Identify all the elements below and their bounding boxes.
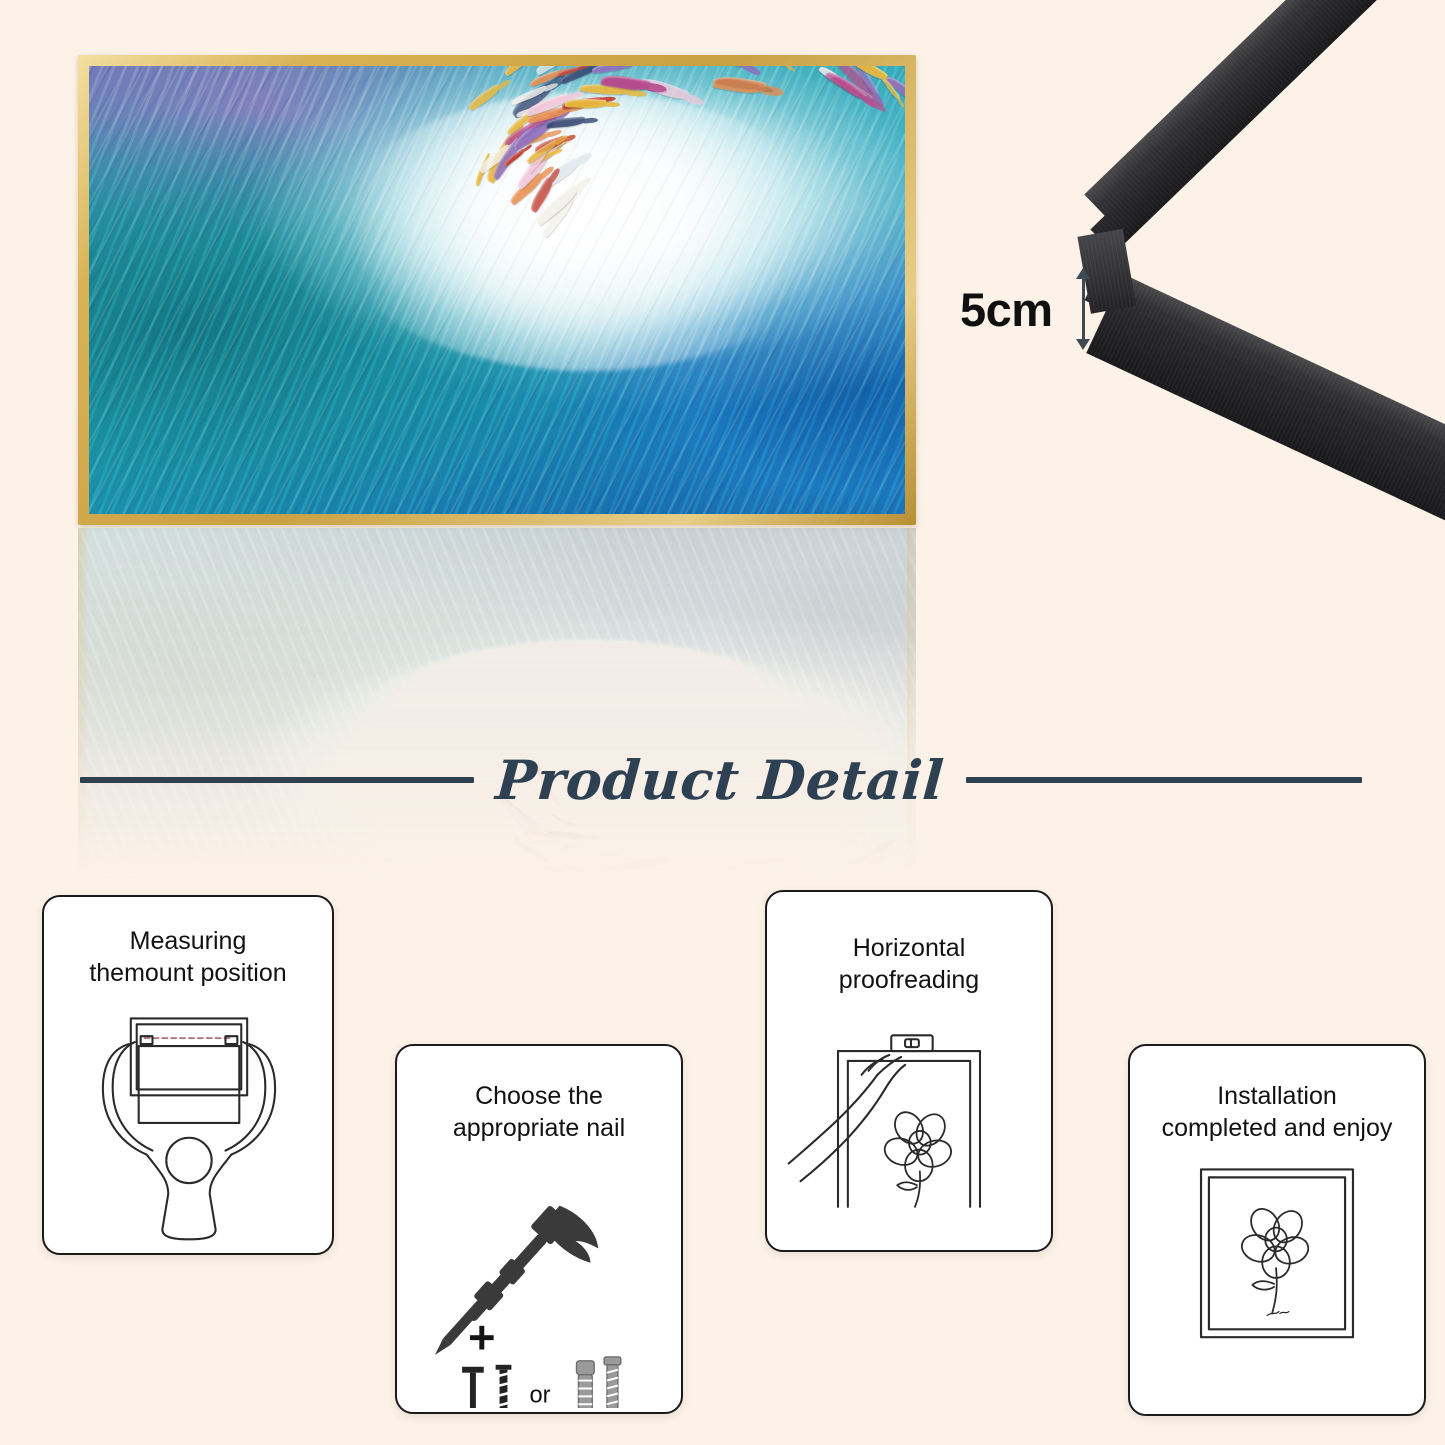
long-screw-icon xyxy=(604,1357,621,1408)
step-card-measuring: Measuring themount position xyxy=(42,895,334,1255)
product-detail-heading: Product Detail xyxy=(0,742,1445,818)
heading-rule-right xyxy=(966,777,1362,783)
screw-icon xyxy=(496,1365,512,1408)
step-card-level: Horizontal proofreading xyxy=(765,890,1053,1252)
fish xyxy=(565,98,607,108)
impasto-texture xyxy=(89,66,905,514)
wall-anchor-icon xyxy=(576,1361,594,1408)
page-title: Product Detail xyxy=(494,748,946,812)
step-title-measuring: Measuring themount position xyxy=(44,897,332,989)
arrow-down-head xyxy=(1076,339,1090,350)
step-card-nail: Choose the appropriate nail xyxy=(395,1044,683,1414)
painting-canvas xyxy=(89,66,905,514)
hand-with-spirit-level-icon xyxy=(767,1012,1051,1242)
step-title-done: Installation completed and enjoy xyxy=(1130,1046,1424,1144)
step-title-nail: Choose the appropriate nail xyxy=(397,1046,681,1144)
step-card-done: Installation completed and enjoy xyxy=(1128,1044,1426,1416)
measurement-label: 5cm xyxy=(960,282,1053,337)
or-label: or xyxy=(529,1382,550,1408)
reflection-right-edge xyxy=(907,528,916,880)
artwork-reflection xyxy=(78,528,916,880)
plus-sign xyxy=(470,1326,494,1350)
double-arrow-icon xyxy=(1075,268,1091,350)
arrow-shaft xyxy=(1082,276,1085,342)
step-title-level: Horizontal proofreading xyxy=(767,892,1051,996)
frame-depth-measurement: 5cm xyxy=(960,268,1091,350)
reflection-wash xyxy=(78,528,916,880)
framed-flower-on-wall-icon xyxy=(1130,1146,1424,1408)
product-detail-page: 5cm Product Detail Measuring themount po… xyxy=(0,0,1445,1445)
hammer-and-nails-icon: or xyxy=(397,1150,681,1408)
reflection-left-edge xyxy=(78,528,87,880)
framed-artwork xyxy=(78,55,916,525)
person-holding-frame-icon xyxy=(44,995,332,1245)
heading-rule-left xyxy=(80,777,474,783)
nail-icon xyxy=(462,1367,484,1408)
